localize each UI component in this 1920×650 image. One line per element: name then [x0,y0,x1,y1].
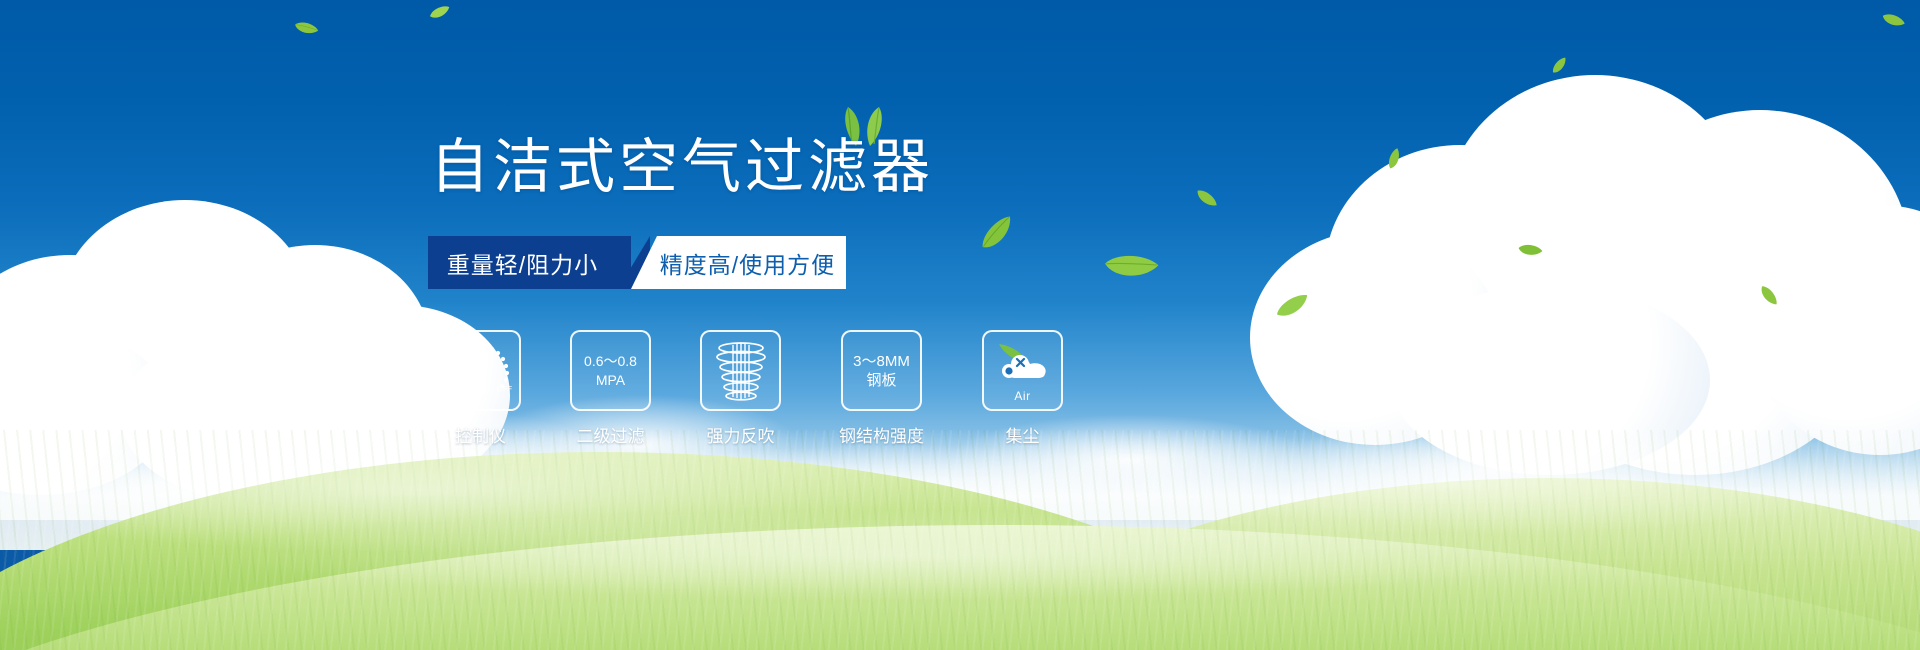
air-label: Air [1014,389,1030,403]
feature-label: 钢结构强度 [839,422,924,447]
feature-item-pressure[interactable]: 0.6～0.8 MPA 二级过滤 [570,330,651,447]
pressure-value: 0.6～0.8 [584,352,637,371]
feature-tabs: 重量轻/阻力小 精度高/使用方便 [428,236,846,289]
product-banner: 自洁式空气过滤器 重量轻/阻力小 精度高/使用方便 [0,0,1920,650]
steel-material: 钢板 [866,371,896,390]
steel-thickness: 3～8MM [853,352,910,371]
feature-label: 控制仪 [455,422,506,447]
tab-weight-resistance[interactable]: 重量轻/阻力小 [428,236,631,289]
page-title: 自洁式空气过滤器 [430,138,934,197]
feature-item-steel[interactable]: 3～8MM 钢板 钢结构强度 [830,330,933,447]
feature-item-dust[interactable]: Air 集尘 [982,330,1063,447]
filter-cartridge-icon [700,330,781,411]
feature-label: 强力反吹 [707,422,775,447]
feature-item-backblow[interactable]: 强力反吹 [700,330,781,447]
feature-label: 集尘 [1006,422,1040,447]
feature-label: 二级过滤 [577,422,645,447]
steel-plate-text-icon: 3～8MM 钢板 [841,330,922,411]
gauge-off-label: OFF [497,386,513,393]
gauge-dial-icon: NO OFF [440,330,521,411]
pressure-unit: MPA [596,371,625,390]
pressure-text-icon: 0.6～0.8 MPA [570,330,651,411]
gauge-no-label: NO [448,367,460,374]
cloud-air-icon: Air [982,330,1063,411]
feature-item-control-gauge[interactable]: NO OFF 控制仪 [440,330,521,447]
feature-icon-row: NO OFF 控制仪 0.6～0.8 MPA 二级过滤 [440,330,1063,447]
tab-precision-usability[interactable]: 精度高/使用方便 [631,236,846,289]
